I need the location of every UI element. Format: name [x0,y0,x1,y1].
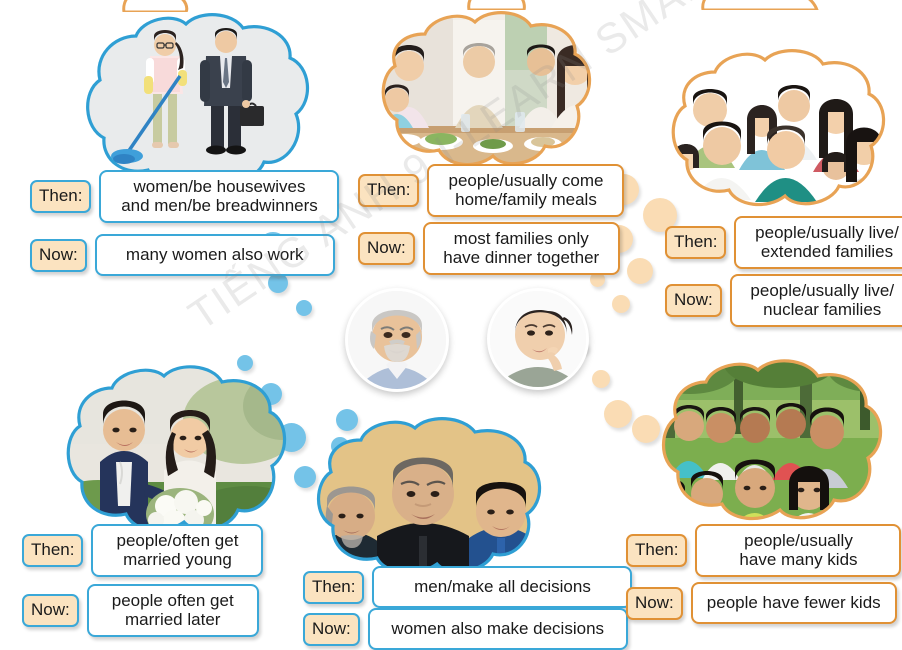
then-chip: Then: [665,226,726,259]
now-text-housewives: many women also work [95,234,335,276]
cloud-family-meals [375,14,600,172]
cloud-number-of-kids [650,360,895,532]
then-chip: Then: [358,174,419,207]
caption-row-then-extended: Then: people/usually live/ extended fami… [665,216,902,269]
worksheet-canvas: Then: women/be housewives and men/be bre… [0,0,902,648]
now-chip: Now: [30,239,87,272]
now-chip: Now: [665,284,722,317]
cloud-fragment-top-right [700,0,820,10]
now-text-decisions: women also make decisions [368,608,628,650]
cloud-fragment-top-left [120,0,190,12]
speech-bubble-dot [604,400,632,428]
cloud-decision-making [305,420,555,582]
then-text-decisions: men/make all decisions [372,566,632,608]
now-chip: Now: [626,587,683,620]
caption-row-now-family-meals: Now: most families only have dinner toge… [358,222,620,275]
speech-bubble-dot [296,300,312,316]
now-chip: Now: [22,594,79,627]
cloud-extended-nuclear-families [663,50,893,215]
caption-row-now-housewives: Now: many women also work [30,234,335,276]
then-chip: Then: [22,534,83,567]
portrait-elderly-man [345,288,449,392]
cloud-housewives-breadwinners [80,14,320,194]
then-chip: Then: [30,180,91,213]
then-text-family-meals: people/usually come home/family meals [427,164,624,217]
now-text-kids: people have fewer kids [691,582,897,624]
caption-row-then-housewives: Then: women/be housewives and men/be bre… [30,170,339,223]
now-chip: Now: [358,232,415,265]
cloud-fragment-top-center [466,0,526,10]
speech-bubble-dot [612,295,630,313]
caption-row-now-kids: Now: people have fewer kids [626,582,897,624]
caption-row-then-decisions: Then: men/make all decisions [303,566,632,608]
then-text-kids: people/usually have many kids [695,524,901,577]
now-text-marriage: people often get married later [87,584,259,637]
then-text-housewives: women/be housewives and men/be breadwinn… [99,170,339,223]
caption-row-then-family-meals: Then: people/usually come home/family me… [358,164,624,217]
speech-bubble-dot [592,370,610,388]
caption-row-now-marriage: Now: people often get married later [22,584,259,637]
caption-row-now-decisions: Now: women also make decisions [303,608,628,650]
now-text-nuclear: people/usually live/ nuclear families [730,274,902,327]
speech-bubble-dot [627,258,653,284]
then-text-extended: people/usually live/ extended families [734,216,902,269]
caption-row-then-marriage: Then: people/often get married young [22,524,263,577]
caption-row-now-nuclear: Now: people/usually live/ nuclear famili… [665,274,902,327]
now-chip: Now: [303,613,360,646]
then-text-marriage: people/often get married young [91,524,263,577]
caption-row-then-kids: Then: people/usually have many kids [626,524,901,577]
then-chip: Then: [626,534,687,567]
cloud-marriage-age [58,366,296,542]
now-text-family-meals: most families only have dinner together [423,222,620,275]
portrait-elderly-woman [487,288,589,390]
then-chip: Then: [303,571,364,604]
